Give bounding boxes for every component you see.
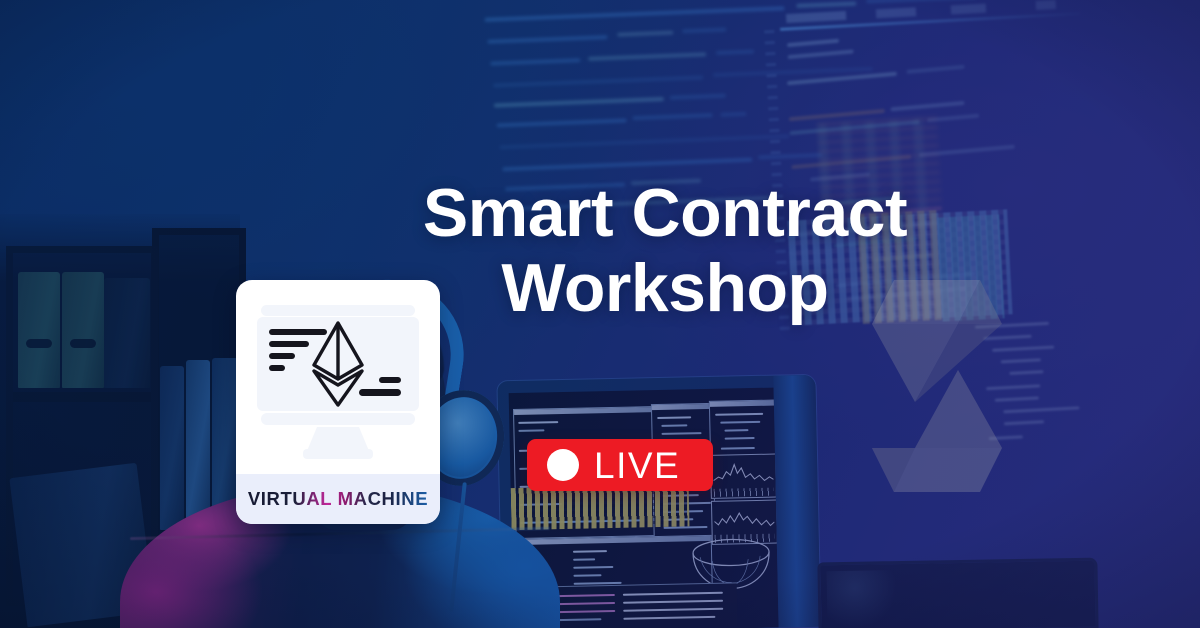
live-badge[interactable]: LIVE [527, 439, 713, 491]
file-tree-blur [969, 314, 1126, 452]
virtual-machine-label: VIRTUAL MACHINE [248, 488, 428, 510]
monitor-bezel [773, 375, 820, 628]
virtual-machine-card[interactable]: VIRTUAL MACHINE [236, 280, 440, 524]
binder [18, 272, 60, 388]
waveform-chart-1 [710, 454, 777, 499]
title-line-1: Smart Contract [300, 176, 1030, 251]
card-label-strip: VIRTUAL MACHINE [236, 474, 440, 524]
ethereum-monitor-icon [255, 303, 421, 461]
promo-banner: Smart Contract Workshop [0, 0, 1200, 628]
binder [62, 272, 104, 388]
card-image-area [241, 285, 435, 475]
laptop [817, 558, 1098, 628]
record-dot-icon [547, 449, 579, 481]
live-label: LIVE [594, 447, 680, 484]
